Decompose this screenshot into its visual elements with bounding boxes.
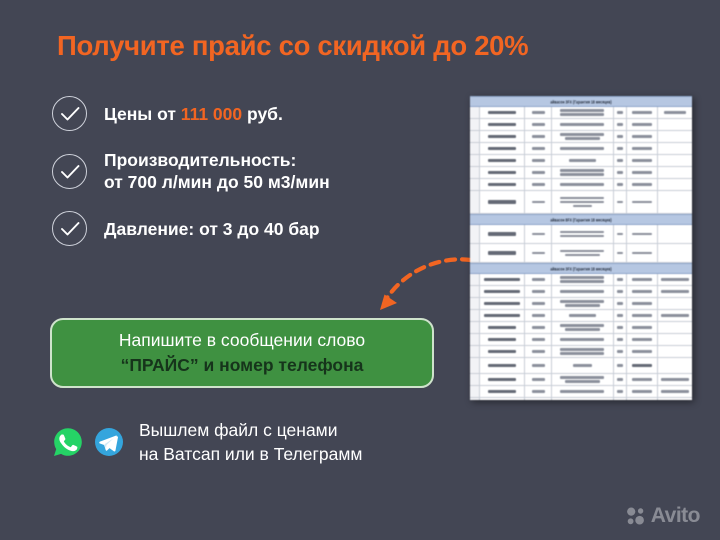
cell-group [470,244,480,262]
cell-unit [525,225,552,243]
cell-group [470,346,480,357]
cell-unit [525,191,552,213]
cell-price [627,274,658,285]
cta-instruction-box: Напишите в сообщении слово “ПРАЙС” и ном… [50,318,434,388]
cell-code [480,334,525,345]
cell-group [470,191,480,213]
cell-unit [525,346,552,357]
cell-price [627,374,658,385]
cell-price [627,155,658,166]
price-list-table-image: айвасон 3FX (Гарантия 18 месяцев) айвасо… [470,96,692,400]
cell-code [480,322,525,333]
table-row [470,286,692,298]
bullet-2-line-1: Производительность: [104,149,330,171]
cell-code [480,244,525,262]
avito-logo-icon [626,506,646,526]
cell-qty [614,322,627,333]
bullet-2-line-2: от 700 л/мин до 50 м3/мин [104,171,330,193]
cell-qty [614,310,627,321]
cell-price [627,167,658,178]
table-section-header: айвасон 8FX (Гарантия 18 месяцев) [470,214,692,225]
page-title: Получите прайс со скидкой до 20% [57,30,677,62]
table-row [470,131,692,143]
table-row [470,310,692,322]
cta-quote-close-and-rest: ” и номер телефона [190,355,364,375]
cell-unit [525,386,552,397]
cell-code [480,143,525,154]
cell-note [658,107,692,118]
cell-qty [614,374,627,385]
cell-description [552,274,614,285]
cell-code [480,119,525,130]
cell-description [552,167,614,178]
cell-code [480,358,525,373]
cell-code [480,298,525,309]
list-item: Цены от 111 000 руб. [52,96,452,131]
cell-code [480,167,525,178]
table-row [470,107,692,119]
cell-group [470,298,480,309]
check-circle-icon [52,154,87,189]
cell-code [480,131,525,142]
advertisement-banner: Получите прайс со скидкой до 20% Цены от… [0,0,720,540]
cell-unit [525,286,552,297]
cell-price [627,107,658,118]
table-section-header: айвасон 3FX (Гарантия 18 месяцев) [470,263,692,274]
cell-note [658,298,692,309]
cell-qty [614,119,627,130]
messenger-line-1: Вышлем файл с ценами [139,418,362,442]
cell-group [470,167,480,178]
cell-note [658,274,692,285]
table-row [470,298,692,310]
table-row [470,119,692,131]
table-row [470,334,692,346]
cell-unit [525,143,552,154]
cell-group [470,274,480,285]
cell-unit [525,167,552,178]
cell-unit [525,334,552,345]
cell-price [627,310,658,321]
cell-group [470,155,480,166]
cell-qty [614,398,627,400]
cell-note [658,322,692,333]
cell-code [480,374,525,385]
cell-price [627,244,658,262]
cell-unit [525,274,552,285]
cell-description [552,131,614,142]
check-circle-icon [52,96,87,131]
cell-note [658,131,692,142]
cell-qty [614,225,627,243]
cell-note [658,179,692,190]
cell-code [480,310,525,321]
cell-price [627,386,658,397]
cell-description [552,191,614,213]
cell-price [627,398,658,400]
avito-watermark: Avito [626,504,700,528]
cell-description [552,225,614,243]
list-item-label: Давление: от 3 до 40 бар [104,218,320,240]
table-row [470,143,692,155]
cell-note [658,191,692,213]
cell-code [480,346,525,357]
table-row [470,322,692,334]
table-section-title: айвасон 3FX (Гарантия 18 месяцев) [550,266,611,271]
cell-description [552,298,614,309]
cell-qty [614,143,627,154]
cell-group [470,386,480,397]
cell-description [552,346,614,357]
cell-qty [614,107,627,118]
table-row [470,225,692,244]
cell-price [627,346,658,357]
cell-price [627,358,658,373]
cell-note [658,167,692,178]
cell-description [552,155,614,166]
cell-note [658,374,692,385]
table-row [470,346,692,358]
list-item-label: Производительность: от 700 л/мин до 50 м… [104,149,330,193]
cell-code [480,398,525,400]
table-section-title: айвасон 3FX (Гарантия 18 месяцев) [550,99,611,104]
cell-description [552,107,614,118]
cta-keyword: ПРАЙС [129,355,190,375]
cell-note [658,155,692,166]
cell-code [480,286,525,297]
cell-note [658,310,692,321]
cell-qty [614,386,627,397]
cell-group [470,334,480,345]
check-circle-icon [52,211,87,246]
cell-code [480,179,525,190]
table-row [470,155,692,167]
table-row [470,374,692,386]
cell-description [552,398,614,400]
cell-qty [614,358,627,373]
cell-group [470,131,480,142]
messenger-line-2: на Ватсап или в Телеграмм [139,442,362,466]
cell-price [627,119,658,130]
cta-line-1: Напишите в сообщении слово [119,328,365,353]
cell-unit [525,119,552,130]
cell-description [552,322,614,333]
telegram-icon[interactable] [93,426,125,458]
cell-group [470,179,480,190]
cell-note [658,386,692,397]
cell-group [470,107,480,118]
cell-qty [614,346,627,357]
table-row [470,386,692,398]
cell-note [658,334,692,345]
cell-description [552,310,614,321]
table-row [470,274,692,286]
cell-qty [614,274,627,285]
cell-description [552,179,614,190]
cell-unit [525,374,552,385]
cell-group [470,322,480,333]
feature-list: Цены от 111 000 руб. Производительность:… [52,96,452,264]
cell-qty [614,286,627,297]
cell-description [552,119,614,130]
cell-group [470,119,480,130]
curved-dashed-arrow-icon [368,252,478,322]
cell-description [552,334,614,345]
list-item: Давление: от 3 до 40 бар [52,211,452,246]
cell-price [627,143,658,154]
bullet-1-part-3: руб. [242,104,283,124]
cell-note [658,143,692,154]
cell-note [658,244,692,262]
cell-price [627,179,658,190]
cell-price [627,131,658,142]
cell-unit [525,107,552,118]
table-row [470,167,692,179]
cell-unit [525,322,552,333]
cell-price [627,191,658,213]
cell-group [470,398,480,400]
cell-qty [614,191,627,213]
cell-group [470,358,480,373]
cell-qty [614,131,627,142]
table-section-title: айвасон 8FX (Гарантия 18 месяцев) [550,217,611,222]
cell-qty [614,155,627,166]
cell-description [552,358,614,373]
bullet-1-price-highlight: 111 000 [181,104,242,124]
cell-unit [525,155,552,166]
table-row [470,398,692,400]
table-section-header: айвасон 3FX (Гарантия 18 месяцев) [470,96,692,107]
cell-description [552,286,614,297]
cell-price [627,298,658,309]
bullet-3-line-1: Давление: от 3 до 40 бар [104,218,320,240]
cell-code [480,274,525,285]
cell-code [480,191,525,213]
cell-unit [525,358,552,373]
cell-unit [525,298,552,309]
cell-note [658,358,692,373]
messenger-delivery-note: Вышлем файл с ценами на Ватсап или в Тел… [52,418,362,466]
cell-unit [525,131,552,142]
cell-note [658,225,692,243]
cell-price [627,225,658,243]
cell-description [552,244,614,262]
cell-code [480,225,525,243]
cell-note [658,398,692,400]
table-row [470,244,692,263]
table-row [470,179,692,191]
bullet-1-part-1: Цены от [104,104,181,124]
cell-code [480,107,525,118]
cell-unit [525,244,552,262]
cell-code [480,155,525,166]
messenger-text: Вышлем файл с ценами на Ватсап или в Тел… [139,418,362,466]
messenger-icons [52,426,125,458]
cell-qty [614,167,627,178]
cell-unit [525,310,552,321]
cell-description [552,143,614,154]
cta-line-2: “ПРАЙС” и номер телефона [121,353,364,378]
table-row [470,358,692,374]
cell-note [658,286,692,297]
cell-unit [525,398,552,400]
list-item-label: Цены от 111 000 руб. [104,103,283,125]
cell-code [480,386,525,397]
cell-group [470,374,480,385]
cell-note [658,346,692,357]
table-row [470,191,692,214]
whatsapp-icon[interactable] [52,426,84,458]
list-item: Производительность: от 700 л/мин до 50 м… [52,149,452,193]
cell-qty [614,244,627,262]
cell-price [627,334,658,345]
cell-group [470,143,480,154]
cell-qty [614,334,627,345]
cell-unit [525,179,552,190]
cell-group [470,225,480,243]
cell-qty [614,179,627,190]
cell-group [470,286,480,297]
cell-qty [614,298,627,309]
cell-description [552,386,614,397]
cell-price [627,286,658,297]
cell-description [552,374,614,385]
cell-group [470,310,480,321]
cell-note [658,119,692,130]
cell-price [627,322,658,333]
avito-wordmark: Avito [651,504,700,528]
